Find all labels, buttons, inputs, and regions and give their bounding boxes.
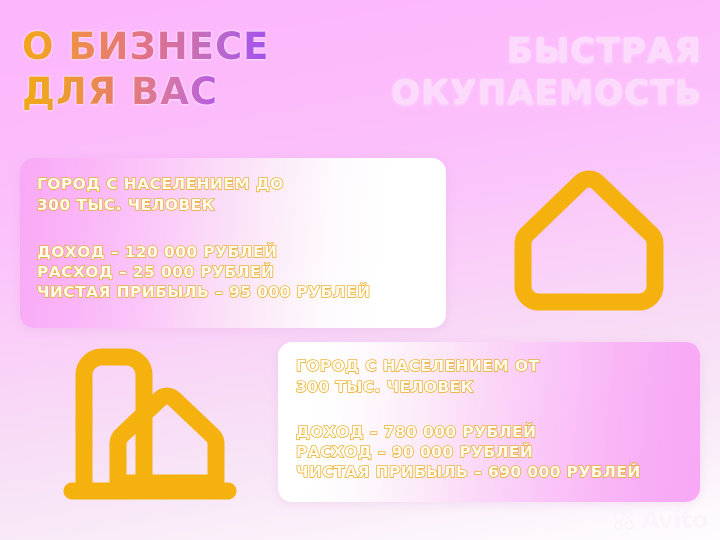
avito-dot-3: [614, 522, 622, 530]
title-right-line2: ОКУПАЕМОСТЬ: [391, 72, 702, 114]
card-2-row-profit: ЧИСТАЯ ПРИБЫЛЬ – 690 000 РУБЛЕЙ: [296, 462, 641, 482]
page-title-left: О БИЗНЕСЕ ДЛЯ ВАС: [22, 24, 362, 114]
title-right-line1: БЫСТРАЯ: [391, 30, 702, 72]
house-outline-icon: [509, 166, 667, 316]
card-2-heading: ГОРОД С НАСЕЛЕНИЕМ ОТ 300 ТЫС. ЧЕЛОВЕК: [296, 356, 539, 398]
title-left-line2: ДЛЯ ВАС: [22, 69, 362, 114]
avito-dot-1: [613, 510, 624, 521]
card-1-row-expense: РАСХОД – 25 000 РУБЛЕЙ: [37, 262, 370, 282]
card-1-row-income: ДОХОД – 120 000 РУБЛЕЙ: [37, 242, 370, 262]
card-1-heading: ГОРОД С НАСЕЛЕНИЕМ ДО 300 ТЫС. ЧЕЛОВЕК: [37, 174, 284, 216]
card-2-heading-line2: 300 ТЫС. ЧЕЛОВЕК: [296, 377, 539, 398]
avito-dot-4: [624, 520, 634, 530]
stats-card-small-city-inner: ГОРОД С НАСЕЛЕНИЕМ ДО 300 ТЫС. ЧЕЛОВЕК Д…: [20, 158, 446, 328]
stats-card-large-city: ГОРОД С НАСЕЛЕНИЕМ ОТ 300 ТЫС. ЧЕЛОВЕК Д…: [278, 342, 700, 502]
card-1-heading-line2: 300 ТЫС. ЧЕЛОВЕК: [37, 195, 284, 216]
avito-wordmark: Avito: [641, 508, 708, 532]
card-1-row-profit: ЧИСТАЯ ПРИБЫЛЬ – 95 000 РУБЛЕЙ: [37, 282, 370, 302]
city-buildings-outline-icon: [60, 343, 240, 503]
stats-card-small-city: ГОРОД С НАСЕЛЕНИЕМ ДО 300 ТЫС. ЧЕЛОВЕК Д…: [20, 158, 446, 328]
card-2-row-income: ДОХОД – 780 000 РУБЛЕЙ: [296, 422, 641, 442]
poster-canvas: О БИЗНЕСЕ ДЛЯ ВАС БЫСТРАЯ ОКУПАЕМОСТЬ ГО…: [0, 0, 720, 540]
title-left-line2-text: ДЛЯ ВАС: [22, 70, 218, 113]
stats-card-large-city-inner: ГОРОД С НАСЕЛЕНИЕМ ОТ 300 ТЫС. ЧЕЛОВЕК Д…: [278, 342, 700, 502]
avito-dots-logo: [613, 509, 636, 532]
title-left-line1-text: О БИЗНЕСЕ: [22, 25, 269, 68]
card-2-stats-list: ДОХОД – 780 000 РУБЛЕЙ РАСХОД – 90 000 Р…: [296, 422, 641, 482]
card-2-heading-line1: ГОРОД С НАСЕЛЕНИЕМ ОТ: [296, 356, 539, 377]
card-1-stats-list: ДОХОД – 120 000 РУБЛЕЙ РАСХОД – 25 000 Р…: [37, 242, 370, 302]
title-left-line1: О БИЗНЕСЕ: [22, 24, 362, 69]
card-2-row-expense: РАСХОД – 90 000 РУБЛЕЙ: [296, 442, 641, 462]
avito-watermark: Avito: [613, 508, 708, 532]
page-title-right: БЫСТРАЯ ОКУПАЕМОСТЬ: [391, 30, 702, 114]
card-1-heading-line1: ГОРОД С НАСЕЛЕНИЕМ ДО: [37, 174, 284, 195]
avito-dot-2: [624, 509, 633, 518]
